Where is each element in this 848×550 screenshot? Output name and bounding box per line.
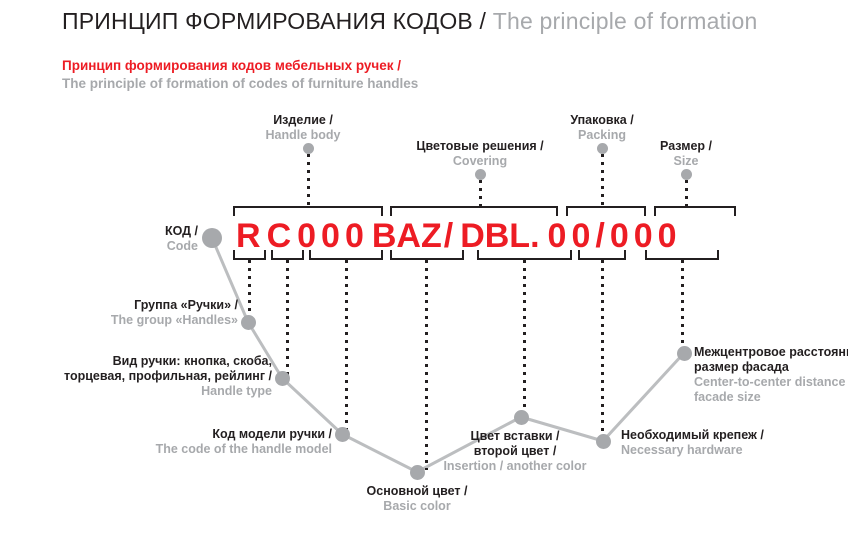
label-size: Размер / Size (606, 139, 766, 169)
dotline-insertion-color (523, 260, 526, 415)
dot-model-code (335, 427, 350, 442)
code-segment-00: 00 (548, 216, 596, 256)
label-basic-color-ru: Основной цвет / (317, 484, 517, 499)
label-necessary-hardware: Необходимый крепеж / Necessary hardware (621, 428, 848, 458)
dotline-size (685, 180, 688, 206)
label-group-handles-ru: Группа «Ручки» / (10, 298, 238, 313)
label-handle-model-code-en: The code of the handle model (60, 442, 332, 457)
code-segment-baz: BAZ (372, 216, 442, 256)
label-handle-body: Изделие / Handle body (208, 113, 398, 143)
label-handle-model-code: Код модели ручки / The code of the handl… (60, 427, 332, 457)
bracket-top-covering (390, 206, 558, 216)
label-covering-en: Covering (375, 154, 585, 169)
page-title-en: The principle of formation (493, 8, 758, 34)
label-handle-type-en: Handle type (10, 384, 272, 399)
label-insertion-color-ru-1: Цвет вставки / (419, 429, 611, 444)
label-handle-type-ru-1: Вид ручки: кнопка, скоба, (10, 354, 272, 369)
page-title-ru: ПРИНЦИП ФОРМИРОВАНИЯ КОДОВ (62, 8, 473, 34)
label-insertion-color-en: Insertion / another color (419, 459, 611, 474)
dot-handle-body (303, 143, 314, 154)
label-handle-body-en: Handle body (208, 128, 398, 143)
label-code: КОД / Code (20, 224, 198, 254)
subtitle-ru: Принцип формирования кодов мебельных руч… (62, 58, 401, 73)
dot-center-distance (677, 346, 692, 361)
label-necessary-hardware-en: Necessary hardware (621, 443, 848, 458)
label-code-en: Code (20, 239, 198, 254)
label-necessary-hardware-ru: Необходимый крепеж / (621, 428, 848, 443)
dot-code (202, 228, 222, 248)
label-center-distance-en-1: Center-to-center distance / (694, 375, 848, 390)
label-center-distance-en-2: facade size (694, 390, 848, 405)
bracket-top-handle-body (233, 206, 383, 216)
label-group-handles-en: The group «Handles» (10, 313, 238, 328)
dotline-handle-body (307, 154, 310, 206)
bracket-top-packing (566, 206, 646, 216)
label-insertion-color: Цвет вставки / второй цвет / Insertion /… (419, 429, 611, 474)
dotline-center-distance (681, 260, 684, 351)
dot-handle-type (275, 371, 290, 386)
code-segment-c: C (267, 216, 292, 256)
dotline-model-code (345, 260, 348, 432)
dotline-handle-type (286, 260, 289, 376)
code-segment-dbl: DBL. (460, 216, 539, 256)
label-code-ru: КОД / (20, 224, 198, 239)
dotline-group-handles (248, 260, 251, 320)
dot-covering (475, 169, 486, 180)
dotline-hardware (601, 260, 604, 439)
dotline-packing (601, 154, 604, 206)
label-basic-color: Основной цвет / Basic color (317, 484, 517, 514)
page-title: ПРИНЦИП ФОРМИРОВАНИЯ КОДОВ / The princip… (62, 8, 757, 35)
dot-insertion-color (514, 410, 529, 425)
label-handle-type-ru-2: торцевая, профильная, рейлинг / (10, 369, 272, 384)
dot-size (681, 169, 692, 180)
label-size-en: Size (606, 154, 766, 169)
label-center-distance-ru-2: размер фасада (694, 360, 848, 375)
label-center-distance-ru-1: Межцентровое расстояние / (694, 345, 848, 360)
label-handle-body-ru: Изделие / (208, 113, 398, 128)
code-string: RC000BAZ/DBL.00/000 (236, 216, 682, 256)
label-basic-color-en: Basic color (317, 499, 517, 514)
code-segment-000: 000 (297, 216, 369, 256)
dotline-covering (479, 180, 482, 206)
subtitle-en: The principle of formation of codes of f… (62, 76, 418, 91)
label-size-ru: Размер / (606, 139, 766, 154)
code-segment-000-b: 000 (610, 216, 682, 256)
code-segment-slash-1: / (444, 216, 453, 256)
label-handle-type: Вид ручки: кнопка, скоба, торцевая, проф… (10, 354, 272, 399)
code-segment-r: R (236, 216, 261, 256)
label-group-handles: Группа «Ручки» / The group «Handles» (10, 298, 238, 328)
page-title-separator: / (473, 8, 493, 34)
code-segment-slash-2: / (595, 216, 604, 256)
label-handle-model-code-ru: Код модели ручки / (60, 427, 332, 442)
bracket-top-size (654, 206, 736, 216)
label-insertion-color-ru-2: второй цвет / (419, 444, 611, 459)
label-covering: Цветовые решения / Covering (375, 139, 585, 169)
diagram-canvas: ПРИНЦИП ФОРМИРОВАНИЯ КОДОВ / The princip… (0, 0, 848, 550)
label-packing-ru: Упаковка / (517, 113, 687, 128)
label-center-distance: Межцентровое расстояние / размер фасада … (694, 345, 848, 405)
dot-group-handles (241, 315, 256, 330)
